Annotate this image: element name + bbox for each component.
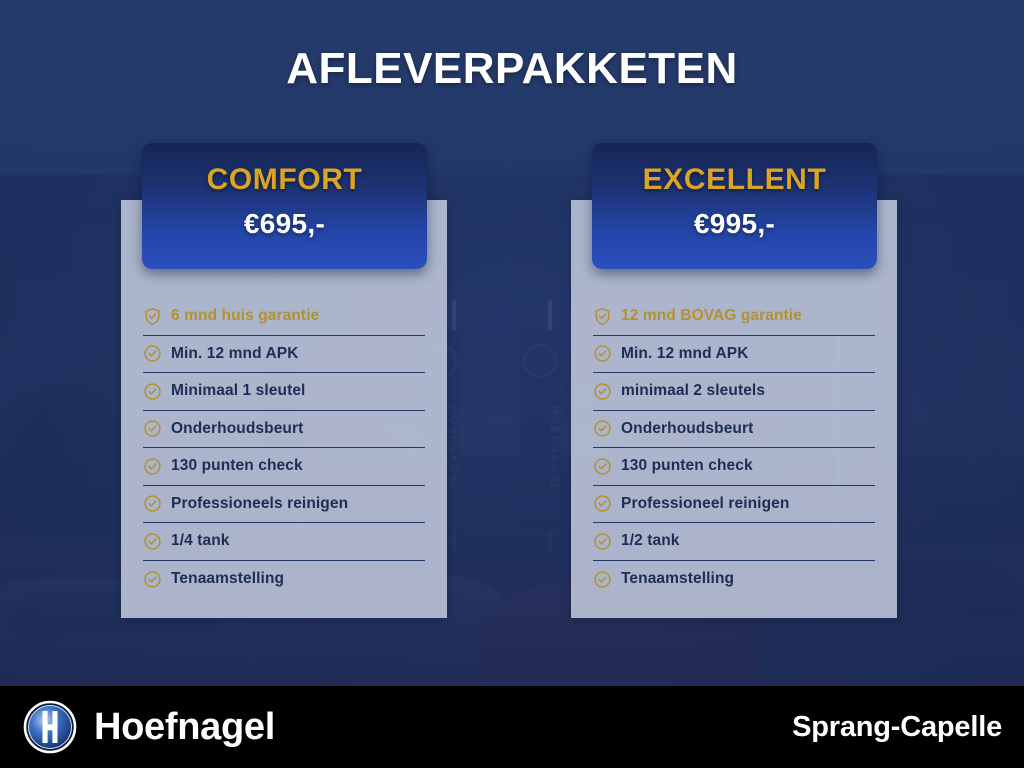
feature-row: Onderhoudsbeurt [143,411,425,449]
feature-row: Min. 12 mnd APK [143,336,425,374]
circle-check-icon [143,494,162,513]
feature-label: Minimaal 1 sleutel [171,382,305,400]
feature-label: Professioneel reinigen [621,495,789,513]
feature-row: Min. 12 mnd APK [593,336,875,374]
feature-label: Tenaamstelling [621,570,734,588]
shield-check-icon [143,307,162,326]
circle-check-icon [143,344,162,363]
feature-label: minimaal 2 sleutels [621,382,765,400]
feature-row: minimaal 2 sleutels [593,373,875,411]
shield-check-icon [593,307,612,326]
package-header-excellent: EXCELLENT €995,- [592,143,877,269]
circle-check-icon [593,494,612,513]
feature-label: Onderhoudsbeurt [621,420,753,438]
feature-row: 1/4 tank [143,523,425,561]
brand-name: Hoefnagel [94,706,275,749]
feature-label: Onderhoudsbeurt [171,420,303,438]
circle-check-icon [143,382,162,401]
feature-row: Tenaamstelling [143,561,425,599]
circle-check-icon [593,532,612,551]
circle-check-icon [593,419,612,438]
feature-label: Professioneels reinigen [171,495,348,513]
feature-label: 130 punten check [171,457,303,475]
feature-row: Tenaamstelling [593,561,875,599]
feature-label: 130 punten check [621,457,753,475]
feature-row: 1/2 tank [593,523,875,561]
feature-label: 6 mnd huis garantie [171,307,319,325]
footer-brand-group: Hoefnagel [0,699,275,755]
circle-check-icon [143,532,162,551]
package-price: €695,- [142,208,427,240]
slide-root: HOEFNAGEL HOEFNAGEL HOEFNAGEL AFLEVERPAK… [0,0,1024,768]
feature-list: 12 mnd BOVAG garantieMin. 12 mnd APKmini… [593,298,875,598]
hoefnagel-h-logo-icon [22,699,78,755]
circle-check-icon [143,419,162,438]
circle-check-icon [593,344,612,363]
circle-check-icon [593,570,612,589]
feature-row: 12 mnd BOVAG garantie [593,298,875,336]
package-header-comfort: COMFORT €695,- [142,143,427,269]
feature-row: 6 mnd huis garantie [143,298,425,336]
feature-label: 12 mnd BOVAG garantie [621,307,802,325]
feature-row: Onderhoudsbeurt [593,411,875,449]
circle-check-icon [143,457,162,476]
circle-check-icon [593,457,612,476]
feature-row: Professioneels reinigen [143,486,425,524]
package-name: COMFORT [142,163,427,198]
feature-row: 130 punten check [143,448,425,486]
page-title: AFLEVERPAKKETEN [0,44,1024,94]
footer-location: Sprang-Capelle [792,711,1024,744]
footer-bar: Hoefnagel Sprang-Capelle [0,686,1024,768]
feature-row: Minimaal 1 sleutel [143,373,425,411]
feature-label: Min. 12 mnd APK [621,345,749,363]
package-price: €995,- [592,208,877,240]
feature-label: 1/2 tank [621,532,680,550]
feature-row: 130 punten check [593,448,875,486]
feature-label: Tenaamstelling [171,570,284,588]
circle-check-icon [143,570,162,589]
feature-row: Professioneel reinigen [593,486,875,524]
feature-label: Min. 12 mnd APK [171,345,299,363]
package-name: EXCELLENT [592,163,877,198]
circle-check-icon [593,382,612,401]
feature-label: 1/4 tank [171,532,230,550]
feature-list: 6 mnd huis garantieMin. 12 mnd APKMinima… [143,298,425,598]
